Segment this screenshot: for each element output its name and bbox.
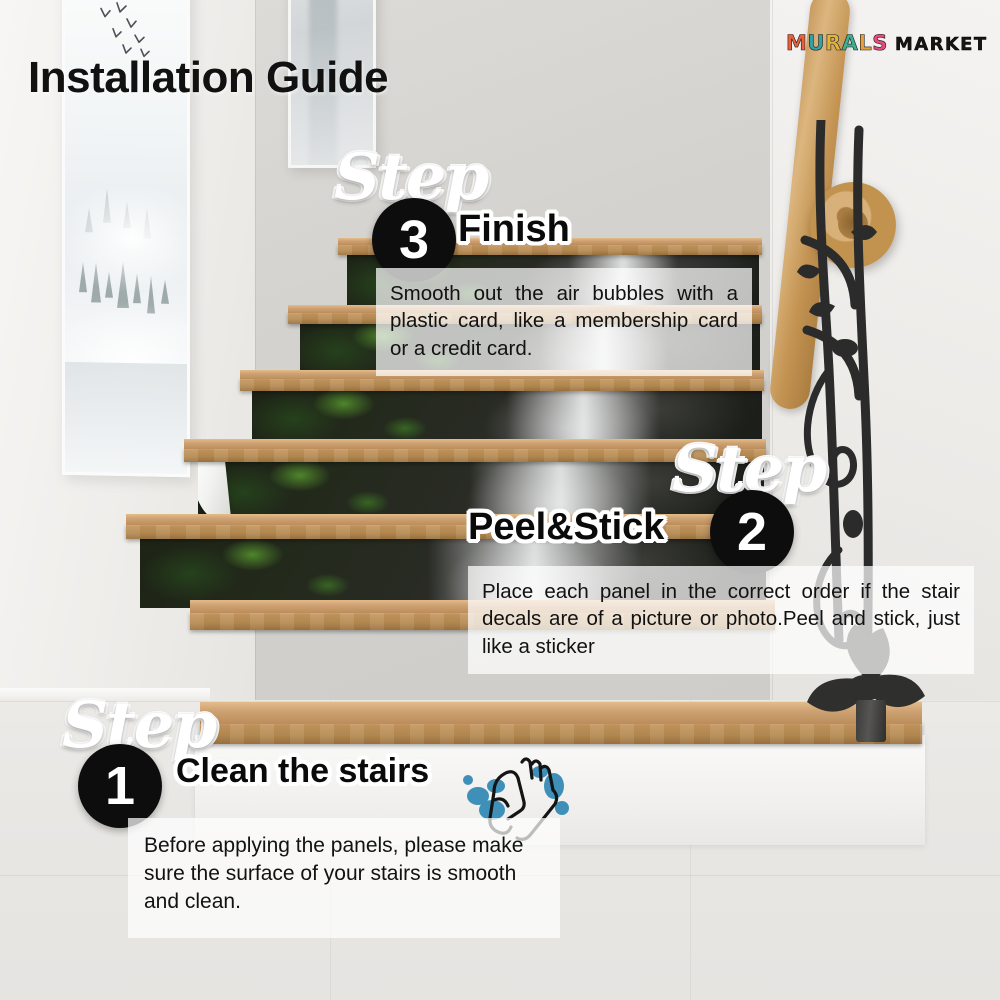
brand-logo[interactable]: MURALS MARKET xyxy=(786,33,988,54)
step-3-heading: Finish xyxy=(458,208,570,251)
stair-tread-3 xyxy=(240,378,764,391)
bottom-step-tread xyxy=(200,722,922,744)
logo-murals: MURALS xyxy=(786,33,888,54)
step-2-number: 2 xyxy=(710,490,794,574)
step-1-panel: Before applying the panels, please make … xyxy=(128,818,560,938)
step-2-badge: Step 2 xyxy=(668,432,828,577)
page-title: Installation Guide xyxy=(28,53,388,103)
newel-post-cap xyxy=(856,700,886,742)
step-2-heading: Peel&Stick xyxy=(468,506,664,549)
step-2-panel: Place each panel in the correct order if… xyxy=(468,566,974,674)
step-3-body: Smooth out the air bubbles with a plasti… xyxy=(390,280,738,362)
step-1-body: Before applying the panels, please make … xyxy=(144,832,544,916)
step-3-panel: Smooth out the air bubbles with a plasti… xyxy=(376,268,752,376)
logo-market: MARKET xyxy=(895,36,988,54)
installation-guide-infographic: Installation Guide MURALS MARKET Step 3 … xyxy=(0,0,1000,1000)
step-2-body: Place each panel in the correct order if… xyxy=(482,578,960,660)
art-water xyxy=(65,362,187,474)
art-fog-band-1 xyxy=(62,182,190,295)
step-1-heading: Clean the stairs xyxy=(176,752,429,791)
step-1-number: 1 xyxy=(78,744,162,828)
